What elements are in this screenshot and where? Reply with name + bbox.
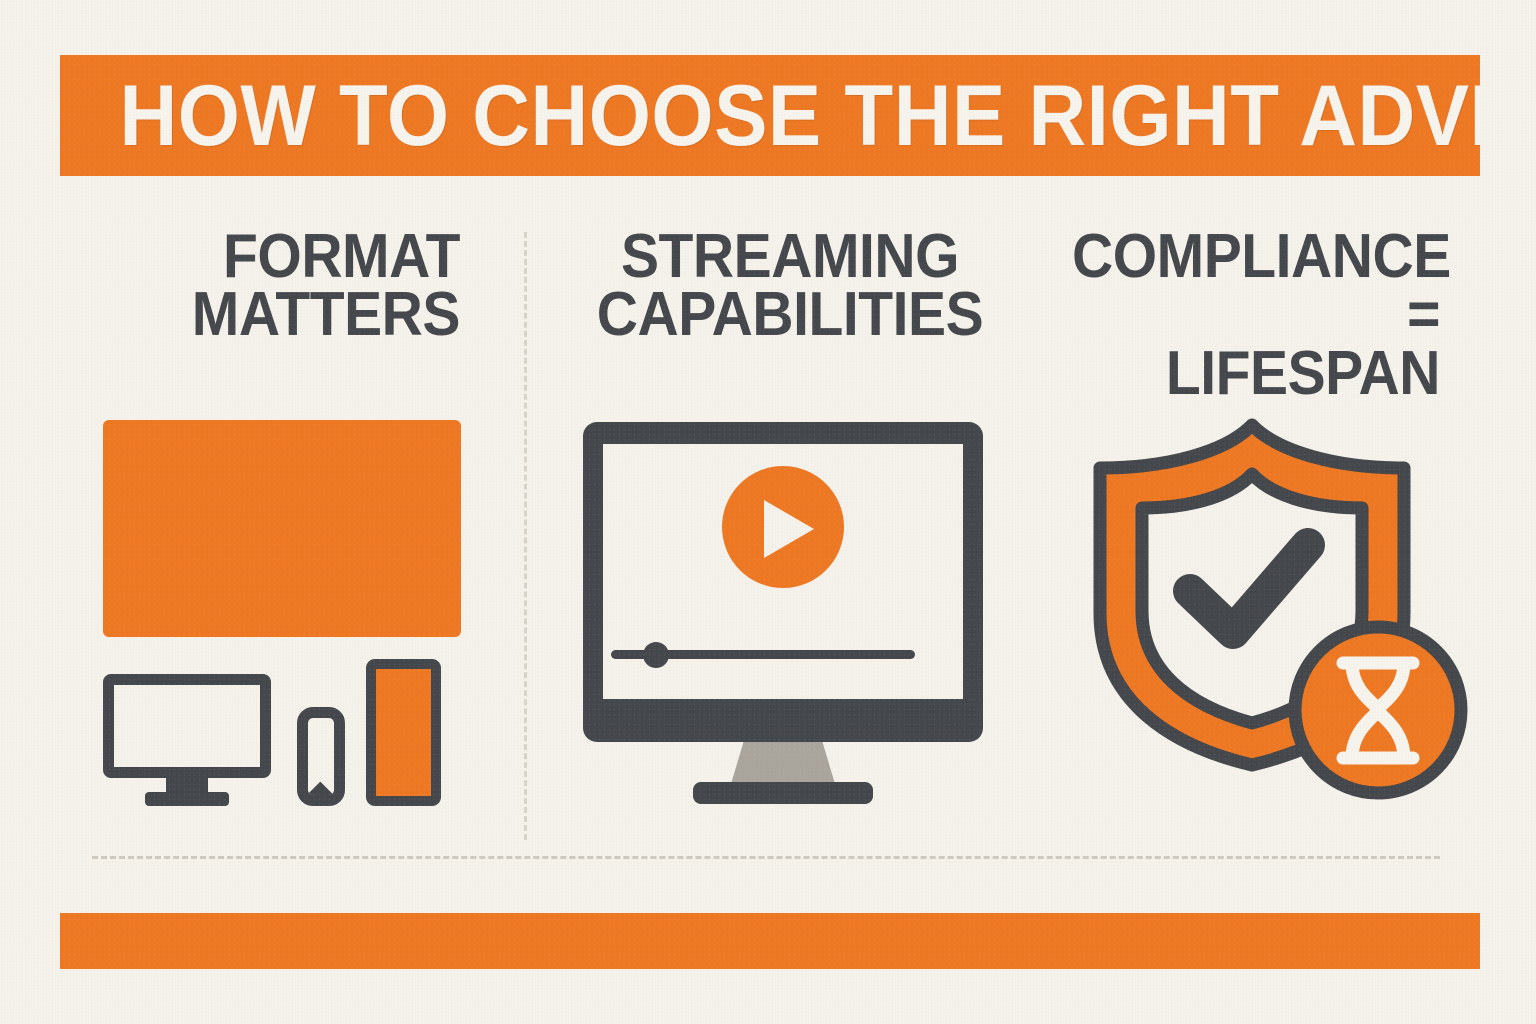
banner-block-icon — [103, 420, 461, 637]
column-streaming-heading: STREAMING CAPABILITIES — [578, 228, 1001, 345]
footer-banner — [60, 913, 1480, 969]
infographic-canvas: HOW TO CHOOSE THE RIGHT ADVERTISING FORM… — [0, 0, 1536, 1024]
monitor-icon — [103, 674, 271, 806]
monitor-base — [145, 792, 229, 806]
column-divider-vertical — [524, 232, 527, 840]
play-triangle-icon — [764, 500, 814, 558]
column-streaming-heading-line2: CAPABILITIES — [578, 286, 1001, 344]
progress-slider-handle[interactable] — [643, 642, 669, 668]
header-banner: HOW TO CHOOSE THE RIGHT ADVERTISING — [60, 55, 1480, 176]
column-format: FORMAT MATTERS — [60, 228, 460, 345]
column-format-heading-line1: FORMAT — [92, 228, 460, 286]
monitor-frame — [103, 674, 271, 778]
shield-icon — [1090, 413, 1480, 813]
column-streaming-heading-line1: STREAMING — [578, 228, 1001, 286]
page-title: HOW TO CHOOSE THE RIGHT ADVERTISING — [60, 73, 1480, 159]
phone-icon — [297, 707, 345, 806]
monitor-video-icon — [583, 422, 983, 807]
column-compliance-heading-line2: LIFESPAN — [1072, 345, 1440, 403]
tablet-icon — [366, 659, 441, 806]
phone-notch — [308, 782, 335, 806]
column-format-heading-line2: MATTERS — [92, 286, 460, 344]
column-compliance-heading-line1: COMPLIANCE = — [1072, 228, 1440, 345]
column-compliance: COMPLIANCE = LIFESPAN — [1040, 228, 1440, 403]
column-format-heading: FORMAT MATTERS — [92, 228, 460, 345]
column-streaming: STREAMING CAPABILITIES — [560, 228, 1020, 345]
monitor-video-base — [693, 782, 873, 804]
section-divider-horizontal — [92, 856, 1440, 859]
column-compliance-heading: COMPLIANCE = LIFESPAN — [1072, 228, 1440, 403]
monitor-video-neck — [731, 742, 835, 784]
